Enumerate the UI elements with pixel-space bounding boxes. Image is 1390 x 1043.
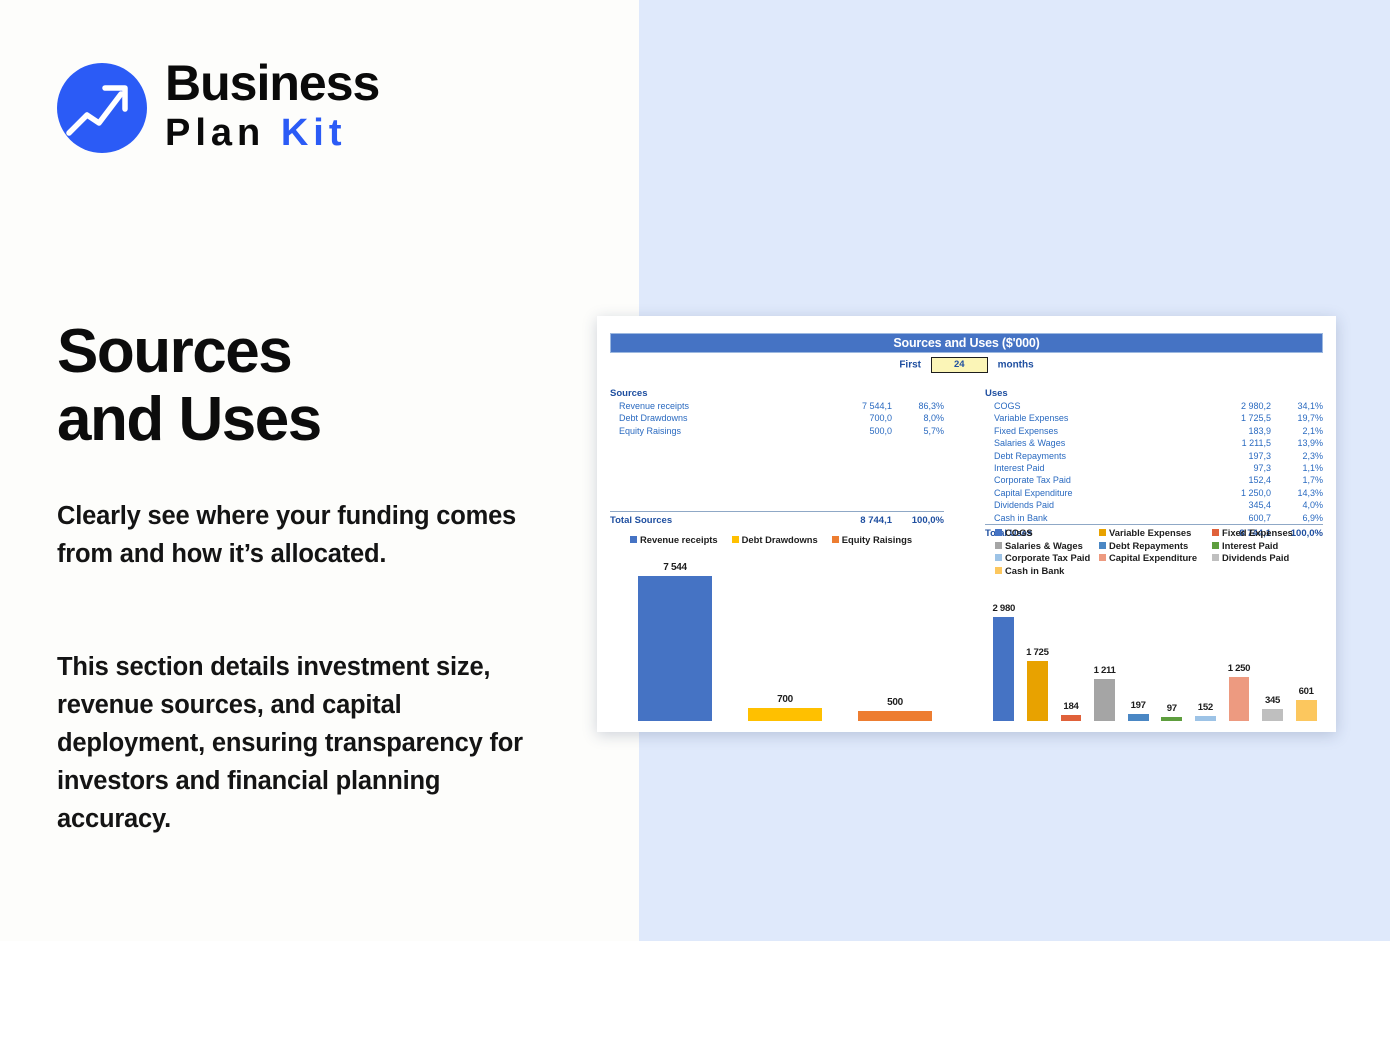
row-percent: 19,7% — [1271, 412, 1323, 424]
row-percent: 86,3% — [892, 400, 944, 412]
row-label: Corporate Tax Paid — [985, 474, 1199, 486]
chart-bar[interactable] — [1195, 716, 1216, 721]
chart-bar[interactable] — [1094, 679, 1115, 721]
total-percent: 100,0% — [892, 512, 944, 529]
chart-bar[interactable] — [1296, 700, 1317, 721]
row-label: Dividends Paid — [985, 499, 1199, 511]
row-label: Salaries & Wages — [985, 437, 1199, 449]
table-row: Interest Paid97,31,1% — [985, 462, 1323, 474]
legend-swatch-icon — [1099, 529, 1106, 536]
table-row: COGS2 980,234,1% — [985, 400, 1323, 412]
row-amount: 600,7 — [1199, 512, 1271, 525]
chart-bar[interactable] — [1161, 717, 1182, 721]
legend-item[interactable]: Fixed Expenses — [1212, 527, 1316, 538]
row-amount: 183,9 — [1199, 425, 1271, 437]
page-title: Sourcesand Uses — [57, 318, 597, 454]
row-percent: 2,1% — [1271, 425, 1323, 437]
chart-bar-group: 1 725 — [1021, 647, 1055, 721]
brand-name-line1: Business — [165, 55, 495, 111]
chart-bar-group: 345 — [1256, 695, 1290, 721]
uses-table-header: Uses — [985, 388, 1323, 400]
row-amount: 1 725,5 — [1199, 412, 1271, 424]
row-amount: 345,4 — [1199, 499, 1271, 511]
uses-bar-chart: 2 9801 7251841 211197971521 250345601 — [987, 541, 1323, 721]
bar-value-label: 500 — [887, 697, 903, 708]
sources-bar-chart: 7 544700500 — [620, 541, 950, 721]
period-suffix-label: months — [998, 360, 1034, 371]
table-row: Cash in Bank600,76,9% — [985, 512, 1323, 525]
brand-word-kit: Kit — [281, 112, 347, 154]
total-amount: 8 744,1 — [820, 512, 892, 529]
uses-table: Uses COGS2 980,234,1%Variable Expenses1 … — [985, 388, 1323, 541]
table-row: Variable Expenses1 725,519,7% — [985, 412, 1323, 424]
chart-bar[interactable] — [1128, 714, 1149, 721]
table-row: Revenue receipts7 544,186,3% — [610, 400, 944, 412]
chart-bar-group: 197 — [1121, 700, 1155, 721]
page-title-line: Sources — [57, 318, 597, 386]
period-months-input[interactable]: 24 — [931, 357, 988, 373]
row-label: Revenue receipts — [610, 400, 820, 412]
row-amount: 500,0 — [820, 425, 892, 437]
bar-value-label: 345 — [1265, 695, 1280, 706]
row-amount: 2 980,2 — [1199, 400, 1271, 412]
sources-table: Sources Revenue receipts7 544,186,3%Debt… — [610, 388, 944, 528]
chart-bar[interactable] — [638, 576, 713, 721]
bar-value-label: 197 — [1131, 700, 1146, 711]
chart-bar-group: 2 980 — [987, 603, 1021, 721]
intro-paragraph: Clearly see where your funding comes fro… — [57, 497, 527, 573]
brand-logo: Business Plan Kit — [57, 55, 477, 160]
chart-bar-group: 1 211 — [1088, 665, 1122, 721]
chart-bar[interactable] — [1262, 709, 1283, 721]
row-amount: 700,0 — [820, 412, 892, 424]
table-row: Fixed Expenses183,92,1% — [985, 425, 1323, 437]
sources-table-header: Sources — [610, 388, 944, 400]
row-percent: 1,7% — [1271, 474, 1323, 486]
bar-value-label: 152 — [1198, 702, 1213, 713]
brand-word-plan: Plan — [165, 112, 265, 154]
row-label: Debt Drawdowns — [610, 412, 820, 424]
spreadsheet-title-bar: Sources and Uses ($'000) — [610, 333, 1323, 353]
row-label: Interest Paid — [985, 462, 1199, 474]
chart-bar-group: 152 — [1189, 702, 1223, 721]
row-percent: 5,7% — [892, 425, 944, 437]
bar-value-label: 184 — [1063, 701, 1078, 712]
chart-bar[interactable] — [993, 617, 1014, 721]
chart-bar[interactable] — [1027, 661, 1048, 721]
row-label: Variable Expenses — [985, 412, 1199, 424]
uses-rows: COGS2 980,234,1%Variable Expenses1 725,5… — [985, 400, 1323, 541]
bar-value-label: 2 980 — [993, 603, 1016, 614]
table-row: Salaries & Wages1 211,513,9% — [985, 437, 1323, 449]
sources-rows: Revenue receipts7 544,186,3%Debt Drawdow… — [610, 400, 944, 528]
chart-bar[interactable] — [748, 708, 823, 721]
row-percent: 4,0% — [1271, 499, 1323, 511]
bar-value-label: 7 544 — [663, 562, 687, 573]
period-prefix-label: First — [899, 360, 921, 371]
table-row: Corporate Tax Paid152,41,7% — [985, 474, 1323, 486]
row-percent: 2,3% — [1271, 450, 1323, 462]
chart-bar-group: 97 — [1155, 703, 1189, 721]
row-percent: 1,1% — [1271, 462, 1323, 474]
row-amount: 152,4 — [1199, 474, 1271, 486]
sources-and-uses-card: Sources and Uses ($'000) First 24 months… — [597, 316, 1336, 732]
row-amount: 7 544,1 — [820, 400, 892, 412]
period-selector-row: First 24 months — [597, 357, 1336, 375]
row-percent: 34,1% — [1271, 400, 1323, 412]
growth-arrow-icon — [57, 63, 147, 153]
legend-label: Variable Expenses — [1109, 527, 1191, 538]
row-label: Capital Expenditure — [985, 487, 1199, 499]
chart-bar[interactable] — [1061, 715, 1082, 721]
row-amount: 197,3 — [1199, 450, 1271, 462]
chart-bar-group: 1 250 — [1222, 663, 1256, 721]
legend-swatch-icon — [995, 529, 1002, 536]
bar-value-label: 1 725 — [1026, 647, 1049, 658]
table-row: Capital Expenditure1 250,014,3% — [985, 487, 1323, 499]
page-title-line: and Uses — [57, 386, 597, 454]
legend-item[interactable]: COGS — [995, 527, 1099, 538]
chart-bar-group: 7 544 — [620, 562, 730, 721]
bar-value-label: 700 — [777, 694, 793, 705]
row-label: Fixed Expenses — [985, 425, 1199, 437]
row-label: COGS — [985, 400, 1199, 412]
chart-bar[interactable] — [1229, 677, 1250, 721]
detail-paragraph: This section details investment size, re… — [57, 648, 527, 838]
bar-value-label: 1 250 — [1228, 663, 1251, 674]
legend-swatch-icon — [1212, 529, 1219, 536]
row-label: Debt Repayments — [985, 450, 1199, 462]
row-percent: 8,0% — [892, 412, 944, 424]
row-amount: 97,3 — [1199, 462, 1271, 474]
row-percent: 13,9% — [1271, 437, 1323, 449]
legend-label: Fixed Expenses — [1222, 527, 1293, 538]
table-row: Debt Repayments197,32,3% — [985, 450, 1323, 462]
table-row: Equity Raisings500,05,7% — [610, 425, 944, 437]
total-label: Total Sources — [610, 512, 820, 529]
table-row: Debt Drawdowns700,08,0% — [610, 412, 944, 424]
brand-name-line2: Plan Kit — [165, 111, 495, 155]
chart-bar-group: 500 — [840, 697, 950, 721]
legend-label: COGS — [1005, 527, 1033, 538]
bar-value-label: 97 — [1167, 703, 1177, 714]
row-label: Equity Raisings — [610, 425, 820, 437]
table-spacer — [610, 437, 944, 512]
chart-bar-group: 184 — [1054, 701, 1088, 721]
table-total-row: Total Sources8 744,1100,0% — [610, 512, 944, 529]
legend-item[interactable]: Variable Expenses — [1099, 527, 1212, 538]
bar-value-label: 1 211 — [1094, 665, 1116, 676]
row-label: Cash in Bank — [985, 512, 1199, 525]
row-amount: 1 250,0 — [1199, 487, 1271, 499]
row-percent: 6,9% — [1271, 512, 1323, 525]
row-amount: 1 211,5 — [1199, 437, 1271, 449]
chart-bar-group: 700 — [730, 694, 840, 721]
table-row: Dividends Paid345,44,0% — [985, 499, 1323, 511]
row-percent: 14,3% — [1271, 487, 1323, 499]
chart-bar-group: 601 — [1289, 686, 1323, 721]
bar-value-label: 601 — [1299, 686, 1314, 697]
chart-bar[interactable] — [858, 711, 933, 721]
